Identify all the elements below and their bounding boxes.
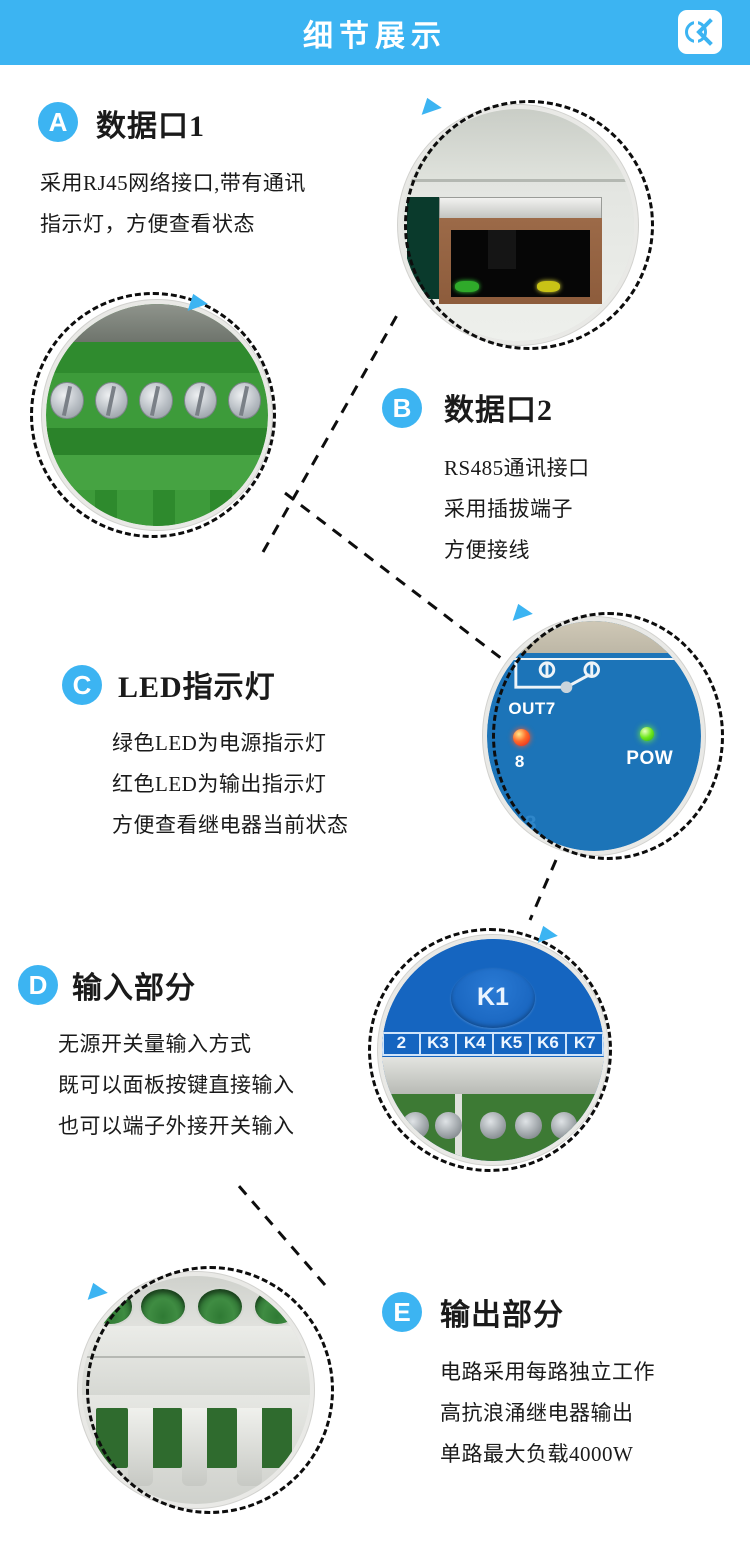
section-badge-b: B <box>382 388 422 428</box>
terminal-screw <box>480 1112 507 1139</box>
terminal-mid-band <box>46 428 268 455</box>
section-body-c: 绿色LED为电源指示灯 红色LED为输出指示灯 方便查看继电器当前状态 <box>112 723 349 846</box>
rj45-activity-led-yellow <box>537 281 560 293</box>
key-button-k1[interactable]: K1 <box>451 968 535 1028</box>
output-tooth <box>182 1408 207 1486</box>
rj45-port-photo <box>398 105 638 345</box>
key-label-cell[interactable]: K4 <box>455 1032 492 1054</box>
section-title-d: 输入部分 <box>72 963 196 1007</box>
key-label-cell[interactable]: K3 <box>419 1032 456 1054</box>
terminal-leg <box>95 490 117 526</box>
connector-c-d <box>530 860 556 920</box>
power-led-green <box>640 727 654 741</box>
output-slot <box>205 1408 237 1467</box>
rj45-photo-inner <box>402 109 634 341</box>
key-label-cell[interactable]: 2 <box>382 1032 419 1054</box>
badge-letter: A <box>49 109 68 135</box>
connector-a-b <box>263 310 400 552</box>
section-badge-d: D <box>18 965 58 1005</box>
terminal-screw <box>515 1112 542 1139</box>
brand-k-logo <box>678 10 722 54</box>
section-e-line-3: 单路最大负载4000W <box>440 1434 655 1475</box>
section-d-line-2: 既可以面板按键直接输入 <box>58 1065 295 1106</box>
keys-label-row: 2 K3 K4 K5 K6 K7 <box>382 1032 604 1054</box>
badge-letter: E <box>393 1299 410 1325</box>
section-body-a: 采用RJ45网络接口,带有通讯 指示灯，方便查看状态 <box>40 163 306 245</box>
power-label: POW <box>626 748 673 770</box>
key-label-cell[interactable]: K7 <box>565 1032 604 1054</box>
output-slot <box>150 1408 182 1467</box>
section-title-e: 输出部分 <box>440 1290 564 1334</box>
page-title: 细节展示 <box>303 11 447 55</box>
keys-photo-inner: K1 2 K3 K4 K5 K6 K7 <box>382 939 604 1161</box>
detail-page: 细节展示 A 数据口1 采用RJ45网络接口,带有通讯 指示灯，方便查看状态 <box>0 0 750 1567</box>
section-body-b: RS485通讯接口 采用插拔端子 方便接线 <box>444 448 590 571</box>
led-indicator-panel-photo: OUT7 8 POW K8 <box>483 617 705 855</box>
terminal-screw <box>184 382 217 420</box>
section-badge-e: E <box>382 1292 422 1332</box>
output-cover-seam <box>82 1356 310 1358</box>
input-keys-photo: K1 2 K3 K4 K5 K6 K7 <box>378 935 608 1165</box>
badge-letter: D <box>29 972 48 998</box>
section-a-line-2: 指示灯，方便查看状态 <box>40 204 306 245</box>
terminal-screw <box>551 1112 578 1139</box>
output-tooth <box>237 1408 262 1486</box>
rj45-key-notch <box>488 230 516 269</box>
terminal-case-shadow <box>46 304 268 342</box>
badge-letter: C <box>73 672 92 698</box>
key-label-cell[interactable]: K6 <box>529 1032 566 1054</box>
section-c-line-3: 方便查看继电器当前状态 <box>112 805 349 846</box>
terminal-upper-band <box>46 342 268 373</box>
badge-letter: B <box>393 395 412 421</box>
output-terminal-hole <box>253 1287 301 1326</box>
section-body-d: 无源开关量输入方式 既可以面板按键直接输入 也可以端子外接开关输入 <box>58 1024 295 1147</box>
section-title-b: 数据口2 <box>444 385 553 429</box>
rj45-link-led-green <box>455 281 478 293</box>
section-b-line-1: RS485通讯接口 <box>444 448 590 489</box>
section-a-line-1: 采用RJ45网络接口,带有通讯 <box>40 163 306 204</box>
terminal-lower-band <box>46 455 268 491</box>
section-badge-c: C <box>62 665 102 705</box>
section-c-line-1: 绿色LED为电源指示灯 <box>112 723 349 764</box>
page-header: 细节展示 <box>0 0 750 65</box>
section-badge-a: A <box>38 102 78 142</box>
output-led-red <box>513 729 530 746</box>
terminal-leg <box>210 490 232 526</box>
output-terminal-photo <box>78 1272 314 1508</box>
connector-d-e <box>238 1185 325 1285</box>
section-d-line-1: 无源开关量输入方式 <box>58 1024 295 1065</box>
output-slot <box>260 1408 292 1467</box>
terminal-photo-inner <box>46 304 268 526</box>
green-terminal-block-photo <box>42 300 272 530</box>
section-title-a: 数据口1 <box>96 101 205 145</box>
terminal-screw <box>50 382 83 420</box>
section-d-line-3: 也可以端子外接开关输入 <box>58 1106 295 1147</box>
output-photo-inner <box>82 1276 310 1504</box>
section-b-line-2: 采用插拔端子 <box>444 489 590 530</box>
model-label-k8: K8 <box>508 811 536 837</box>
section-e-line-1: 电路采用每路独立工作 <box>440 1352 655 1393</box>
output-terminal-hole <box>139 1287 187 1326</box>
relay-out-label: OUT7 <box>508 699 555 719</box>
terminal-screw <box>139 382 172 420</box>
rj45-case-seam <box>402 179 634 182</box>
terminal-leg <box>153 490 175 526</box>
section-e-line-2: 高抗浪涌继电器输出 <box>440 1393 655 1434</box>
section-b-line-3: 方便接线 <box>444 530 590 571</box>
terminal-screw <box>402 1112 429 1139</box>
led-panel-case-edge <box>487 621 701 653</box>
keys-case-gray-strip <box>382 1057 604 1095</box>
output-terminal-hole <box>196 1287 244 1326</box>
led-photo-inner: OUT7 8 POW K8 <box>487 621 701 851</box>
section-title-c: LED指示灯 <box>118 662 276 706</box>
section-c-line-2: 红色LED为输出指示灯 <box>112 764 349 805</box>
output-slot <box>96 1408 128 1467</box>
output-tooth <box>128 1408 153 1486</box>
terminal-screw <box>435 1112 462 1139</box>
channel-number-label: 8 <box>515 752 524 772</box>
section-body-e: 电路采用每路独立工作 高抗浪涌继电器输出 单路最大负载4000W <box>440 1352 655 1475</box>
key-label-cell[interactable]: K5 <box>492 1032 529 1054</box>
key-button-k1-label: K1 <box>477 983 509 1012</box>
output-cover-plate <box>82 1326 310 1394</box>
